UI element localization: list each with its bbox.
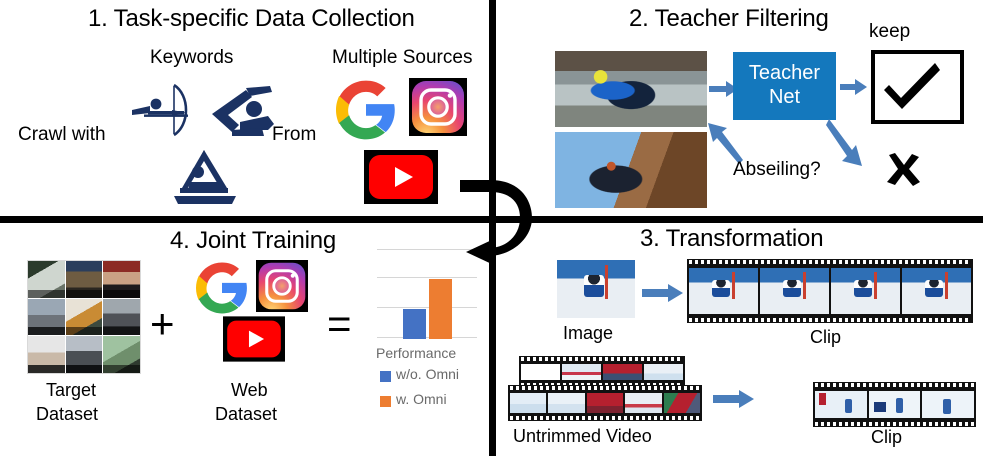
check-mark-icon xyxy=(875,54,952,112)
arrow-image-to-clip xyxy=(642,282,684,304)
thumbnail xyxy=(28,336,65,373)
clip-bottom-caption: Clip xyxy=(871,428,902,447)
canyoning-photo xyxy=(555,51,707,127)
gridline xyxy=(377,337,477,338)
gridline xyxy=(377,307,477,308)
legend-label-w-omni: w. Omni xyxy=(396,392,447,407)
multiple-sources-label: Multiple Sources xyxy=(332,48,472,68)
film-frame xyxy=(922,391,974,418)
legend-label-wo-omni: w/o. Omni xyxy=(396,367,459,382)
film-frame xyxy=(521,364,560,380)
legend-swatch-wo-omni xyxy=(380,371,391,382)
film-frame xyxy=(831,268,900,314)
source-image-photo xyxy=(557,260,635,318)
untrimmed-filmstrip-row2 xyxy=(508,385,702,421)
archery-pictogram xyxy=(128,82,198,138)
plus-symbol: + xyxy=(150,303,175,345)
quadrant-4-title: 4. Joint Training xyxy=(170,228,336,253)
arrow-net-to-keep xyxy=(840,76,868,98)
youtube-logo xyxy=(223,315,285,363)
thumbnail xyxy=(28,299,65,336)
film-frame xyxy=(548,393,584,413)
keywords-label: Keywords xyxy=(150,48,233,68)
google-logo xyxy=(336,80,396,140)
clip-filmstrip-top xyxy=(687,259,973,323)
film-frame xyxy=(603,364,642,380)
thumbnail xyxy=(28,261,65,298)
gridline xyxy=(377,277,477,278)
quadrant-2-title: 2. Teacher Filtering xyxy=(629,6,829,31)
instagram-logo xyxy=(256,260,308,312)
bar-w-omni xyxy=(429,279,452,339)
film-frame xyxy=(644,364,683,380)
teacher-net-line1: Teacher xyxy=(749,62,820,84)
bar-wo-omni xyxy=(403,309,426,339)
arrow-video-to-clip xyxy=(713,388,755,410)
equals-symbol: = xyxy=(327,303,352,345)
web-dataset-label-line2: Dataset xyxy=(215,405,277,424)
film-frame xyxy=(689,268,758,314)
rowing-pictogram xyxy=(206,84,278,140)
thumbnail xyxy=(66,336,103,373)
untrimmed-filmstrip-row1 xyxy=(519,356,685,388)
film-perforations-bottom xyxy=(510,416,700,420)
thumbnail xyxy=(103,336,140,373)
film-perforations-top xyxy=(510,386,700,390)
film-perforations-bottom xyxy=(689,318,971,322)
teacher-net-block: Teacher Net xyxy=(733,52,836,120)
teacher-net-line2: Net xyxy=(769,86,800,108)
film-frame xyxy=(664,393,700,413)
film-perforations-top xyxy=(521,357,683,361)
from-label: From xyxy=(272,125,316,145)
film-frame xyxy=(760,268,829,314)
google-logo xyxy=(196,262,248,314)
film-frame xyxy=(815,391,867,418)
keep-box xyxy=(871,50,964,124)
thumbnail xyxy=(66,299,103,336)
film-frame xyxy=(510,393,546,413)
legend-swatch-w-omni xyxy=(380,396,391,407)
quadrant-1-title: 1. Task-specific Data Collection xyxy=(88,6,415,31)
target-dataset-grid xyxy=(27,260,141,374)
target-dataset-label-line1: Target xyxy=(46,381,96,400)
keep-label: keep xyxy=(869,22,910,42)
film-perforations-bottom xyxy=(815,422,974,426)
pipeline-figure: 1. Task-specific Data Collection Keyword… xyxy=(0,0,983,456)
youtube-logo xyxy=(364,150,438,204)
abseiling-photo xyxy=(555,132,707,208)
thumbnail xyxy=(103,261,140,298)
untrimmed-video-caption: Untrimmed Video xyxy=(513,427,652,446)
arrow-net-to-reject xyxy=(826,116,870,172)
film-frame xyxy=(587,393,623,413)
film-perforations-top xyxy=(689,260,971,264)
web-dataset-label-line1: Web xyxy=(231,381,268,400)
film-frame xyxy=(625,393,661,413)
instagram-logo xyxy=(409,78,467,136)
thumbnail xyxy=(66,261,103,298)
canoe-pictogram xyxy=(166,148,242,206)
abseiling-query-label: Abseiling? xyxy=(733,160,821,180)
crawl-with-label: Crawl with xyxy=(18,125,106,145)
film-perforations-top xyxy=(815,383,974,387)
quadrant-3-title: 3. Transformation xyxy=(640,226,823,251)
film-frame xyxy=(902,268,971,314)
loop-arrow-icon xyxy=(446,166,542,270)
film-frame xyxy=(869,391,921,418)
thumbnail xyxy=(103,299,140,336)
chart-xlabel: Performance xyxy=(376,346,456,361)
film-frame xyxy=(562,364,601,380)
cross-mark-icon xyxy=(885,153,921,192)
image-caption: Image xyxy=(563,324,613,343)
target-dataset-label-line2: Dataset xyxy=(36,405,98,424)
clip-filmstrip-bottom xyxy=(813,382,976,427)
clip-top-caption: Clip xyxy=(810,328,841,347)
